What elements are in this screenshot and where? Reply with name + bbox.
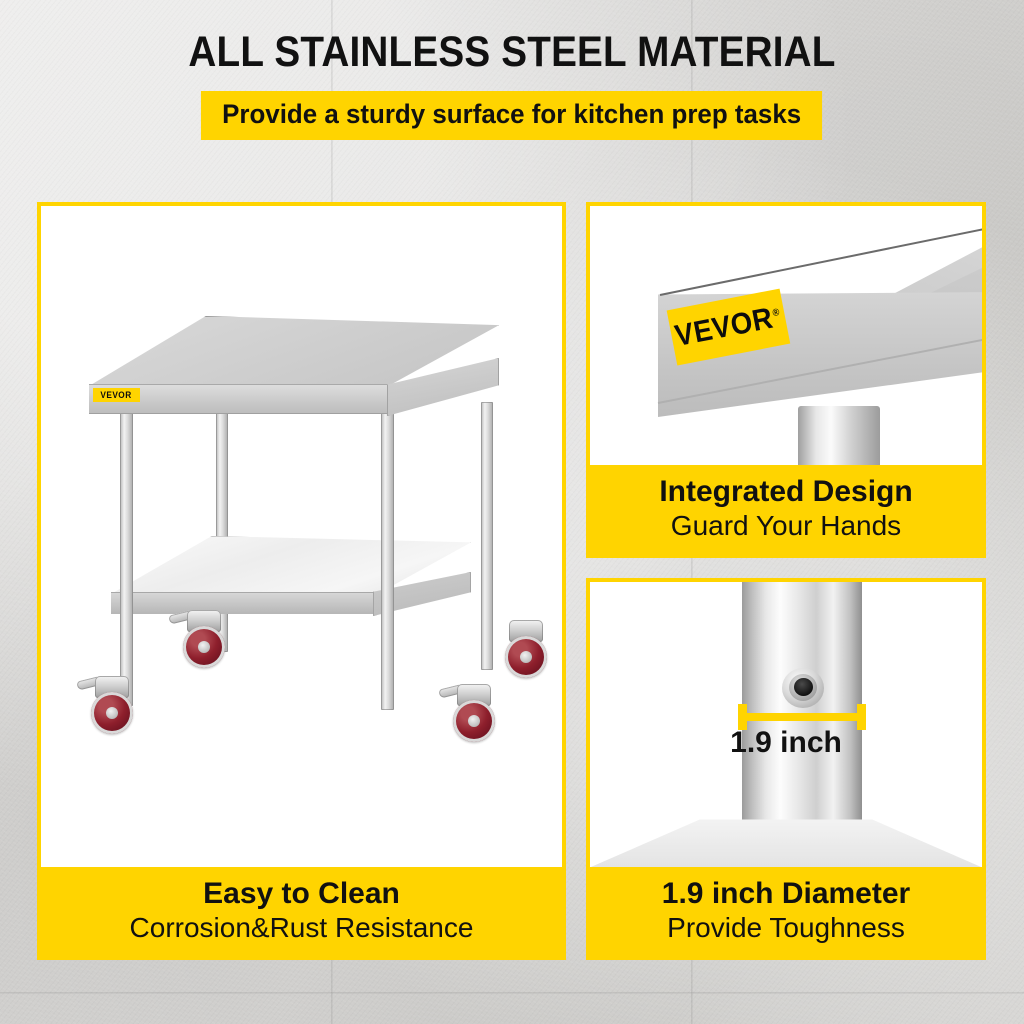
caption-title: 1.9 inch Diameter [594,877,978,911]
registered-trademark-mark: ® [772,307,781,319]
page-subtitle: Provide a sturdy surface for kitchen pre… [201,91,822,140]
page-title: ALL STAINLESS STEEL MATERIAL [51,30,973,75]
table-leg-tube [798,406,880,465]
panel-main-product: VEVOR Easy to Clean Corrosion&Rust Resis… [37,202,566,960]
vevor-logo-badge: VEVOR [93,388,140,402]
panel-leg-diameter: 1.9 inch 1.9 inch Diameter Provide Tough… [586,578,986,960]
table-leg-front-right [381,410,394,710]
caption-subtitle: Provide Toughness [594,911,978,944]
caption-leg-diameter: 1.9 inch Diameter Provide Toughness [590,867,982,956]
vevor-logo-text: VEVOR [101,390,132,400]
dimension-label: 1.9 inch [590,726,982,760]
caption-corner-closeup: Integrated Design Guard Your Hands [590,465,982,554]
caption-title: Integrated Design [594,475,978,509]
prep-table-illustration: VEVOR [41,206,562,867]
panel-corner-closeup: VEVOR® Integrated Design Guard Your Hand… [586,202,986,558]
caption-main-product: Easy to Clean Corrosion&Rust Resistance [41,867,562,956]
tile-seam-horizontal [0,992,1024,994]
header-block: ALL STAINLESS STEEL MATERIAL Provide a s… [0,30,1024,140]
caster-hub [106,707,118,719]
leg-tube-illustration: 1.9 inch [590,582,982,867]
table-leg-back-right [481,402,493,670]
product-photo-corner: VEVOR® [590,206,982,465]
dimension-bar [740,713,864,721]
caster-hub [198,641,210,653]
subtitle-wrap: Provide a sturdy surface for kitchen pre… [0,91,1024,140]
product-photo-main: VEVOR [41,206,562,867]
vevor-logo-text: VEVOR® [673,300,785,354]
floor-plane [590,815,982,867]
lower-shelf-front-edge [111,592,373,614]
table-leg-front-left [120,411,133,706]
adjuster-hole-inner [794,678,813,696]
table-corner-illustration: VEVOR® [590,206,982,465]
caster-hub [520,651,532,663]
caption-subtitle: Corrosion&Rust Resistance [45,911,558,944]
caption-title: Easy to Clean [45,877,558,911]
product-photo-leg: 1.9 inch [590,582,982,867]
caption-subtitle: Guard Your Hands [594,509,978,542]
leg-tube [742,582,862,838]
caster-hub [468,715,480,727]
